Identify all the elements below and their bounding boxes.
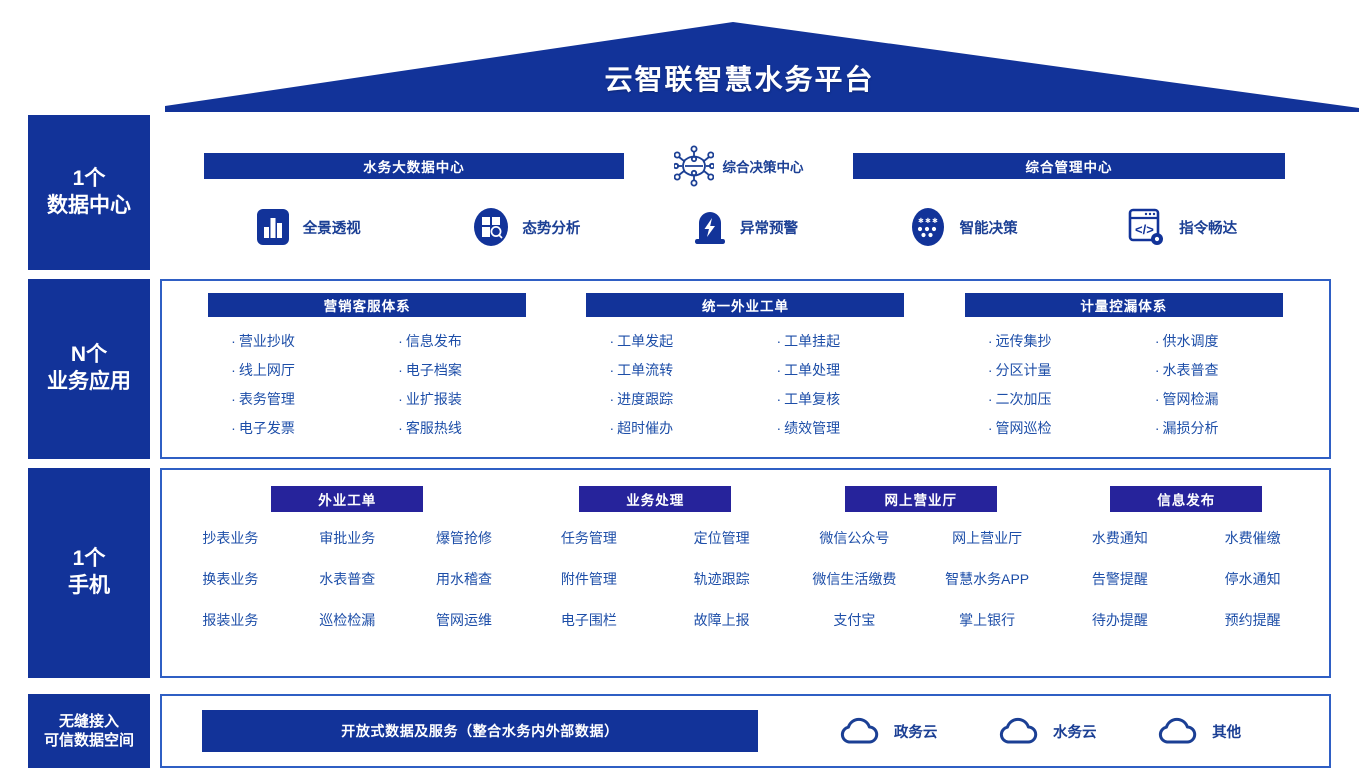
row-label-line1: 1个 <box>73 166 106 193</box>
list-item[interactable]: ·营业抄收 <box>217 331 364 351</box>
row-label-line2: 手机 <box>68 573 110 600</box>
feature-panoramic-view[interactable]: 全景透视 <box>198 206 417 248</box>
list-item[interactable]: ·客服热线 <box>370 418 517 438</box>
list-item[interactable]: ·供水调度 <box>1127 331 1274 351</box>
row-label-mobile: 1个 手机 <box>28 468 150 678</box>
data-space-body: 开放式数据及服务（整合水务内外部数据） 政务云 水务云 <box>160 694 1331 768</box>
network-nodes-icon <box>674 145 714 187</box>
card-item-grid: 水费通知 水费催缴 告警提醒 停水通知 待办提醒 预约提醒 <box>1054 528 1320 630</box>
list-item[interactable]: ·业扩报装 <box>370 389 517 409</box>
list-item[interactable]: 巡检检漏 <box>319 610 375 630</box>
svg-text:</>: </> <box>1135 222 1154 237</box>
page-title: 云智联智慧水务平台 <box>0 58 1359 98</box>
feature-anomaly-alert[interactable]: 异常预警 <box>635 205 854 249</box>
card-online-service-hall: 网上营业厅 微信公众号 网上营业厅 微信生活缴费 智慧水务APP 支付宝 掌上银… <box>788 486 1054 664</box>
bar-chart-icon <box>254 206 292 248</box>
card-title[interactable]: 外业工单 <box>271 486 423 512</box>
feature-intelligent-decision[interactable]: ✱ ✱ ✱ 智能决策 <box>854 206 1073 248</box>
card-title[interactable]: 业务处理 <box>579 486 731 512</box>
code-window-gear-icon: </> <box>1126 205 1168 249</box>
title-banner: 云智联智慧水务平台 <box>0 0 1359 112</box>
list-item[interactable]: ·表务管理 <box>217 389 364 409</box>
list-item[interactable]: ·工单流转 <box>595 360 742 380</box>
list-item[interactable]: 用水稽查 <box>436 569 492 589</box>
list-item[interactable]: 水费通知 <box>1092 528 1148 548</box>
card-item-grid: ·营业抄收 ·信息发布 ·线上网厅 ·电子档案 ·表务管理 ·业扩报装 ·电子发… <box>217 331 517 438</box>
list-item[interactable]: 故障上报 <box>694 610 750 630</box>
list-item[interactable]: 定位管理 <box>694 528 750 548</box>
card-item-grid: 微信公众号 网上营业厅 微信生活缴费 智慧水务APP 支付宝 掌上银行 <box>788 528 1054 630</box>
row-label-line1: N个 <box>71 342 107 369</box>
list-item[interactable]: 爆管抢修 <box>436 528 492 548</box>
list-item[interactable]: 抄表业务 <box>202 528 258 548</box>
row-label-data-center: 1个 数据中心 <box>28 115 150 270</box>
alarm-bolt-icon <box>691 205 729 249</box>
row-label-line1: 无缝接入 <box>59 712 119 731</box>
card-title[interactable]: 统一外业工单 <box>586 293 904 317</box>
card-item-grid: ·工单发起 ·工单挂起 ·工单流转 ·工单处理 ·进度跟踪 ·工单复核 ·超时催… <box>595 331 895 438</box>
cloud-label: 其他 <box>1212 721 1241 742</box>
row-label-line2: 数据中心 <box>47 193 131 220</box>
data-center-body: 水务大数据中心 <box>158 115 1331 270</box>
list-item[interactable]: 告警提醒 <box>1092 569 1148 589</box>
row-label-line2: 可信数据空间 <box>44 731 134 750</box>
feature-label: 指令畅达 <box>1179 217 1237 238</box>
card-title[interactable]: 营销客服体系 <box>208 293 526 317</box>
bar-water-big-data-center[interactable]: 水务大数据中心 <box>204 153 624 179</box>
cloud-icon <box>997 715 1041 747</box>
row-label-line1: 1个 <box>73 546 106 573</box>
list-item[interactable]: 轨迹跟踪 <box>694 569 750 589</box>
card-item-grid: 抄表业务 审批业务 爆管抢修 换表业务 水表普查 用水稽查 报装业务 巡检检漏 … <box>172 528 522 630</box>
list-item[interactable]: ·工单发起 <box>595 331 742 351</box>
grid-search-icon <box>471 206 511 248</box>
card-unified-field-workorder: 统一外业工单 ·工单发起 ·工单挂起 ·工单流转 ·工单处理 ·进度跟踪 ·工单… <box>556 293 934 447</box>
feature-situation-analysis[interactable]: 态势分析 <box>417 206 636 248</box>
list-item[interactable]: ·绩效管理 <box>748 418 895 438</box>
card-field-workorder: 外业工单 抄表业务 审批业务 爆管抢修 换表业务 水表普查 用水稽查 报装业务 … <box>172 486 522 664</box>
bar-open-data-services[interactable]: 开放式数据及服务（整合水务内外部数据） <box>202 710 758 752</box>
list-item[interactable]: ·信息发布 <box>370 331 517 351</box>
svg-text:✱: ✱ <box>918 217 924 225</box>
feature-command-delivery[interactable]: </> 指令畅达 <box>1072 205 1291 249</box>
section-business-applications: N个 业务应用 营销客服体系 ·营业抄收 ·信息发布 ·线上网厅 ·电子档案 ·… <box>28 279 1331 459</box>
section-data-space: 无缝接入 可信数据空间 开放式数据及服务（整合水务内外部数据） 政务云 水务云 <box>28 694 1331 768</box>
cloud-icon <box>838 715 882 747</box>
svg-text:✱: ✱ <box>925 217 931 225</box>
data-center-bars: 水务大数据中心 <box>158 115 1331 187</box>
list-item[interactable]: 网上营业厅 <box>952 528 1022 548</box>
cloud-icon <box>1156 715 1200 747</box>
feature-label: 智能决策 <box>960 217 1018 238</box>
list-item[interactable]: ·工单处理 <box>748 360 895 380</box>
list-item[interactable]: ·电子发票 <box>217 418 364 438</box>
cloud-other[interactable]: 其他 <box>1156 715 1241 747</box>
section-mobile: 1个 手机 外业工单 抄表业务 审批业务 爆管抢修 换表业务 水表普查 用水稽查… <box>28 468 1331 678</box>
card-marketing-service: 营销客服体系 ·营业抄收 ·信息发布 ·线上网厅 ·电子档案 ·表务管理 ·业扩… <box>178 293 556 447</box>
card-information-release: 信息发布 水费通知 水费催缴 告警提醒 停水通知 待办提醒 预约提醒 <box>1054 486 1320 664</box>
list-item[interactable]: 智慧水务APP <box>945 569 1029 589</box>
feature-label: 异常预警 <box>740 217 798 238</box>
list-item[interactable]: 待办提醒 <box>1092 610 1148 630</box>
list-item[interactable]: 任务管理 <box>561 528 617 548</box>
cloud-list: 政务云 水务云 其他 <box>758 715 1311 747</box>
card-title[interactable]: 信息发布 <box>1110 486 1262 512</box>
cloud-water-affairs[interactable]: 水务云 <box>997 715 1097 747</box>
list-item[interactable]: ·远传集抄 <box>974 331 1121 351</box>
feature-label: 态势分析 <box>522 217 580 238</box>
card-title[interactable]: 网上营业厅 <box>845 486 997 512</box>
bar-integrated-management-center[interactable]: 综合管理中心 <box>853 153 1285 179</box>
card-item-grid: ·远传集抄 ·供水调度 ·分区计量 ·水表普查 ·二次加压 ·管网检漏 ·管网巡… <box>974 331 1274 438</box>
list-item[interactable]: ·工单挂起 <box>748 331 895 351</box>
list-item[interactable]: 审批业务 <box>319 528 375 548</box>
list-item[interactable]: ·超时催办 <box>595 418 742 438</box>
card-item-grid: 任务管理 定位管理 附件管理 轨迹跟踪 电子围栏 故障上报 <box>522 528 788 630</box>
mobile-body: 外业工单 抄表业务 审批业务 爆管抢修 换表业务 水表普查 用水稽查 报装业务 … <box>160 468 1331 678</box>
data-center-feature-list: 全景透视 态势分析 异常预警 <box>158 187 1331 249</box>
list-item[interactable]: ·线上网厅 <box>217 360 364 380</box>
ai-brain-icon: ✱ ✱ ✱ <box>909 206 949 248</box>
cloud-government[interactable]: 政务云 <box>838 715 938 747</box>
card-business-processing: 业务处理 任务管理 定位管理 附件管理 轨迹跟踪 电子围栏 故障上报 <box>522 486 788 664</box>
cloud-label: 水务云 <box>1053 721 1097 742</box>
list-item[interactable]: 附件管理 <box>561 569 617 589</box>
card-title[interactable]: 计量控漏体系 <box>965 293 1283 317</box>
list-item[interactable]: ·管网巡检 <box>974 418 1121 438</box>
list-item[interactable]: 电子围栏 <box>561 610 617 630</box>
list-item[interactable]: 预约提醒 <box>1225 610 1281 630</box>
row-label-data-space: 无缝接入 可信数据空间 <box>28 694 150 768</box>
list-item[interactable]: ·进度跟踪 <box>595 389 742 409</box>
business-apps-body: 营销客服体系 ·营业抄收 ·信息发布 ·线上网厅 ·电子档案 ·表务管理 ·业扩… <box>160 279 1331 459</box>
section-data-center: 1个 数据中心 水务大数据中心 <box>28 115 1331 270</box>
row-label-business-apps: N个 业务应用 <box>28 279 150 459</box>
list-item[interactable]: 掌上银行 <box>959 610 1015 630</box>
list-item[interactable]: ·漏损分析 <box>1127 418 1274 438</box>
list-item[interactable]: ·分区计量 <box>974 360 1121 380</box>
list-item[interactable]: ·水表普查 <box>1127 360 1274 380</box>
list-item[interactable]: ·电子档案 <box>370 360 517 380</box>
list-item[interactable]: 换表业务 <box>202 569 258 589</box>
list-item[interactable]: 微信公众号 <box>819 528 889 548</box>
list-item[interactable]: 支付宝 <box>833 610 875 630</box>
list-item[interactable]: ·管网检漏 <box>1127 389 1274 409</box>
card-metering-leakage-control: 计量控漏体系 ·远传集抄 ·供水调度 ·分区计量 ·水表普查 ·二次加压 ·管网… <box>935 293 1313 447</box>
decision-center-group[interactable]: 综合决策中心 <box>624 145 853 187</box>
label-decision-center: 综合决策中心 <box>723 156 804 176</box>
list-item[interactable]: ·工单复核 <box>748 389 895 409</box>
cloud-label: 政务云 <box>894 721 938 742</box>
list-item[interactable]: ·二次加压 <box>974 389 1121 409</box>
feature-label: 全景透视 <box>303 217 361 238</box>
list-item[interactable]: 水表普查 <box>319 569 375 589</box>
list-item[interactable]: 报装业务 <box>202 610 258 630</box>
list-item[interactable]: 管网运维 <box>436 610 492 630</box>
row-label-line2: 业务应用 <box>47 369 131 396</box>
list-item[interactable]: 停水通知 <box>1225 569 1281 589</box>
list-item[interactable]: 水费催缴 <box>1225 528 1281 548</box>
list-item[interactable]: 微信生活缴费 <box>812 569 896 589</box>
